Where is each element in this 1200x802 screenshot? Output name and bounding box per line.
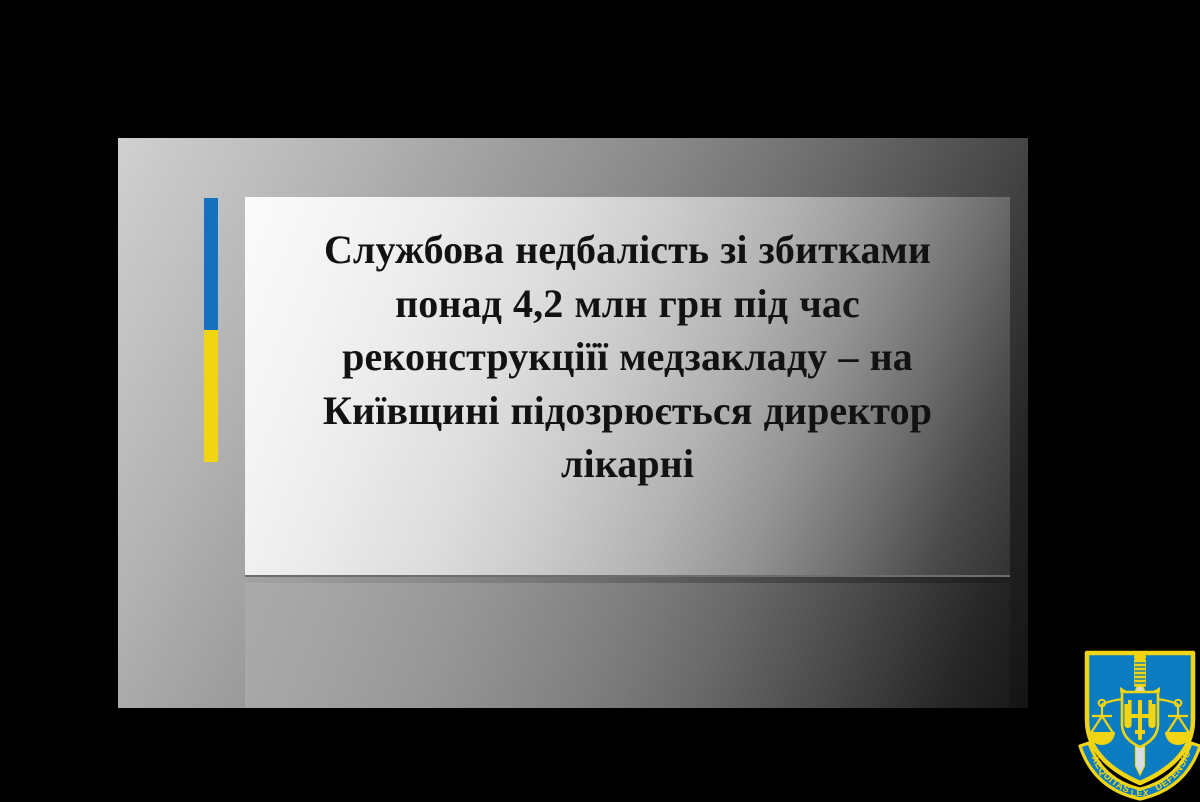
accent-bar-yellow-segment [204,330,218,462]
emblem-trident-shield [1122,692,1158,747]
accent-bar-blue-segment [204,198,218,330]
headline-card: Службова недбалість зі збитками понад 4,… [245,197,1010,577]
prosecutor-office-emblem: AEQUITAS DEFENSIO LEX [1078,642,1200,802]
headline-title: Службова недбалість зі збитками понад 4,… [267,215,988,491]
emblem-motto-center: LEX [1131,788,1149,798]
slide-backdrop: Службова недбалість зі збитками понад 4,… [0,0,1200,800]
ukraine-flag-accent-bar [204,198,218,462]
slide-lower-panel [245,583,1010,708]
